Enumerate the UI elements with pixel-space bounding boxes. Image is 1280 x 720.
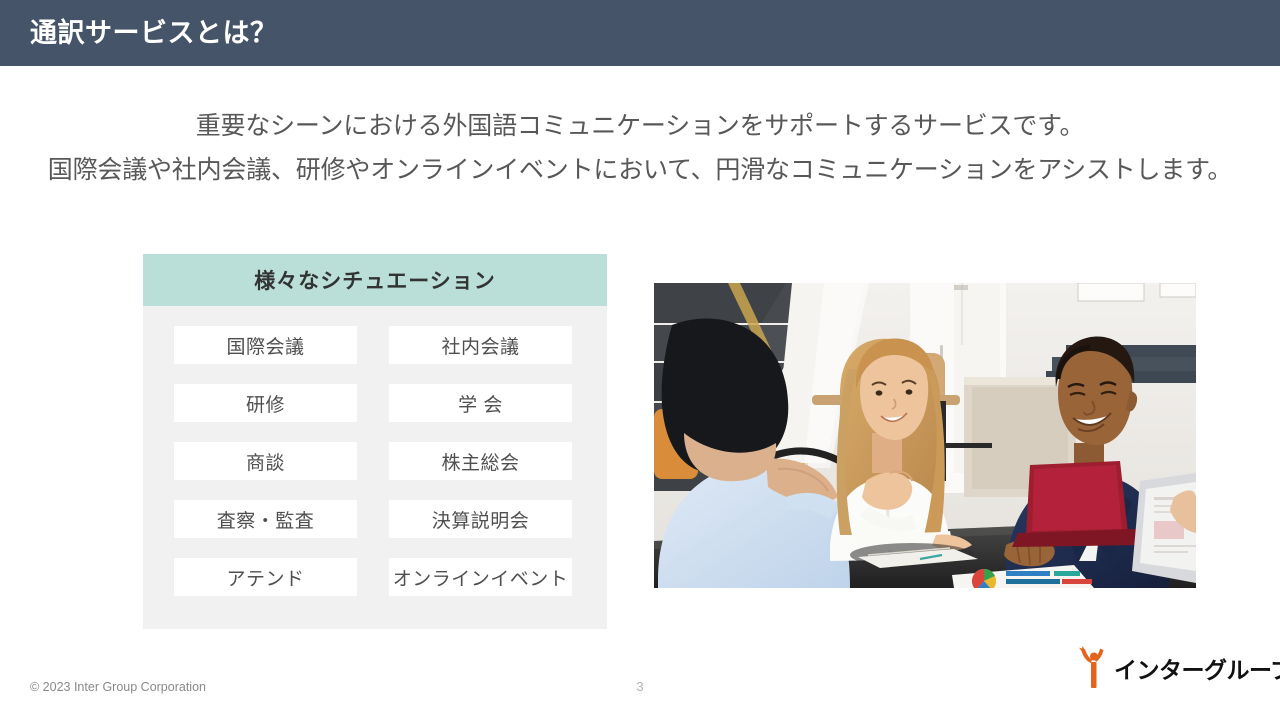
situation-cell: 株主総会 (389, 442, 572, 480)
situation-label: 国際会議 (226, 332, 304, 359)
lead-line-1: 重要なシーンにおける外国語コミュニケーションをサポートするサービスです。 (0, 104, 1280, 148)
situation-cell: 商談 (174, 442, 357, 480)
situation-cell: 査察・監査 (174, 500, 357, 538)
slide-header-bar: 通訳サービスとは？ (0, 0, 1280, 66)
situation-cell: 研修 (174, 384, 357, 422)
situation-label: 商談 (246, 448, 285, 475)
situations-grid: 国際会議 社内会議 研修 学 会 商談 株主総会 査察・監査 決算説明会 アテン… (174, 326, 572, 596)
situations-panel-header: 様々なシチュエーション (143, 254, 607, 306)
intergroup-figure-icon (1078, 646, 1112, 690)
situation-cell: 決算説明会 (389, 500, 572, 538)
situation-label: オンラインイベント (393, 564, 569, 591)
situation-cell: 学 会 (389, 384, 572, 422)
situation-label: 社内会議 (441, 332, 519, 359)
company-logo: インターグループ (1078, 645, 1258, 691)
situation-label: 研修 (246, 390, 285, 417)
situation-label: 査察・監査 (217, 506, 315, 533)
logo-text: インターグループ (1114, 651, 1280, 685)
situations-panel: 様々なシチュエーション 国際会議 社内会議 研修 学 会 商談 株主総会 査察・… (143, 254, 607, 629)
lead-paragraph: 重要なシーンにおける外国語コミュニケーションをサポートするサービスです。 国際会… (0, 104, 1280, 192)
situation-cell: 社内会議 (389, 326, 572, 364)
situation-label: 決算説明会 (432, 506, 530, 533)
lead-line-2: 国際会議や社内会議、研修やオンラインイベントにおいて、円滑なコミュニケーションを… (0, 148, 1280, 192)
situations-panel-title: 様々なシチュエーション (254, 265, 496, 295)
situation-cell: オンラインイベント (389, 558, 572, 596)
situation-cell: アテンド (174, 558, 357, 596)
page-title: 通訳サービスとは？ (30, 0, 278, 66)
situation-cell: 国際会議 (174, 326, 357, 364)
business-meeting-photo (654, 283, 1196, 588)
situation-label: アテンド (226, 564, 304, 591)
situation-label: 株主総会 (441, 448, 519, 475)
situation-label: 学 会 (458, 390, 503, 417)
